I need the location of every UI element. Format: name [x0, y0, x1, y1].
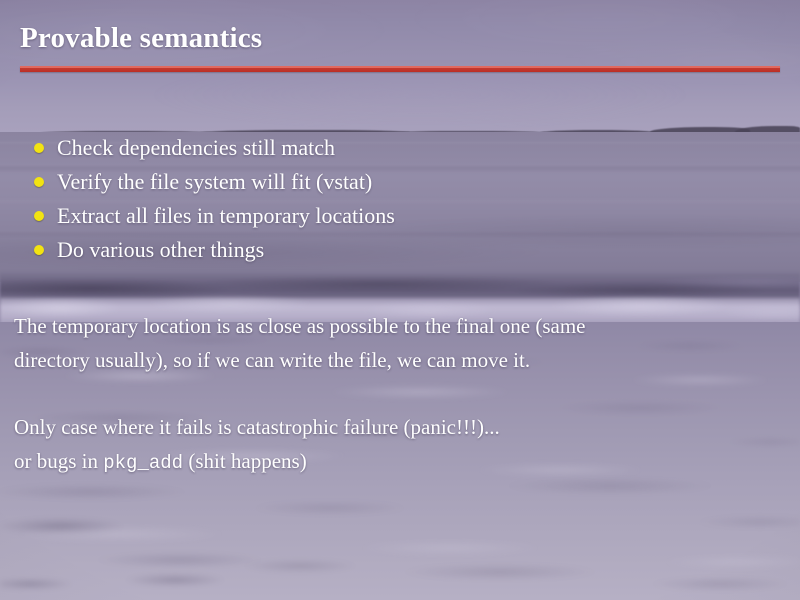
paragraph-line: Only case where it fails is catastrophic… — [14, 410, 789, 444]
bullet-item-label: Check dependencies still match — [57, 135, 335, 160]
paragraph-line: or bugs in pkg_add (shit happens) — [14, 444, 789, 480]
bullet-dot-icon — [34, 245, 44, 255]
paragraph-line: The temporary location is as close as po… — [14, 309, 789, 343]
inline-text: or bugs in — [14, 449, 103, 473]
inline-text: Only case where it fails is catastrophic… — [14, 415, 500, 439]
paragraph-line: directory usually), so if we can write t… — [14, 343, 789, 377]
bullet-item-label: Verify the file system will fit (vstat) — [57, 169, 372, 194]
title-divider-rule — [20, 66, 780, 72]
bullet-dot-icon — [34, 143, 44, 153]
bullet-list-item: Verify the file system will fit (vstat) — [34, 165, 395, 199]
bullet-list-item: Check dependencies still match — [34, 131, 395, 165]
bullet-item-label: Do various other things — [57, 237, 264, 262]
inline-text: (shit happens) — [183, 449, 307, 473]
bullet-list: Check dependencies still match Verify th… — [34, 131, 395, 267]
inline-code: pkg_add — [103, 452, 183, 474]
slide-content: Provable semantics Check dependencies st… — [0, 0, 800, 600]
bullet-dot-icon — [34, 177, 44, 187]
bullet-list-item: Do various other things — [34, 233, 395, 267]
body-paragraph-1: The temporary location is as close as po… — [14, 309, 789, 377]
body-paragraph-2: Only case where it fails is catastrophic… — [14, 410, 789, 480]
bullet-dot-icon — [34, 211, 44, 221]
bullet-list-item: Extract all files in temporary locations — [34, 199, 395, 233]
bullet-item-label: Extract all files in temporary locations — [57, 203, 395, 228]
presentation-slide: Provable semantics Check dependencies st… — [0, 0, 800, 600]
slide-title: Provable semantics — [20, 22, 262, 55]
